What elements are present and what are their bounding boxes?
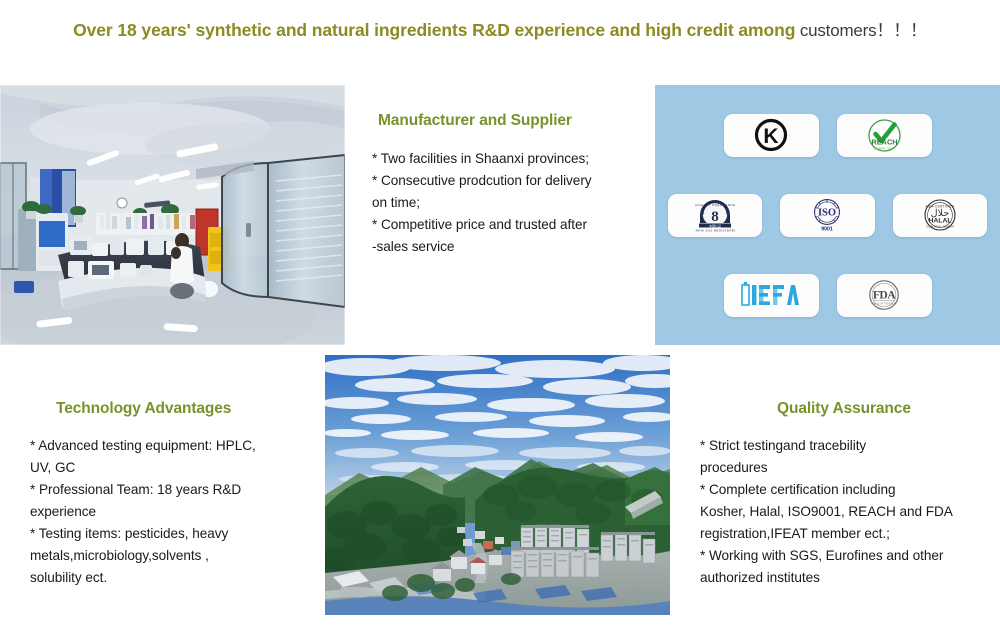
svg-text:FDA: FDA [873,288,896,301]
headline-strong-text: Over 18 years' synthetic and natural ing… [73,20,795,40]
manufacturer-heading: Manufacturer and Supplier [378,112,655,130]
kosher-certification-card[interactable]: K [724,114,819,157]
svg-text:ASIA CERTIFIED HALAL: ASIA CERTIFIED HALAL [922,197,924,198]
ifeat-icon [740,281,802,309]
valley-town-panorama-photo [325,355,670,615]
svg-text:CHINA SGS REGISTERED: CHINA SGS REGISTERED [695,228,735,232]
certification-row: QUALITY ASSURANCE 8 中国认证 CHINA SGS REGIS… [668,194,987,237]
certification-row: K REACH COMPLIANT [668,114,987,157]
technology-advantages-body: * Advanced testing equipment: HPLC, UV, … [30,435,322,589]
iso-9001-icon: ISO 9001 [809,197,845,233]
halal-certification-card[interactable]: ASIA CERTIFIED HALAL ASIA CERTIFIED حلال… [893,194,987,237]
svg-text:中国认证: 中国认证 [709,222,721,227]
svg-text:9001: 9001 [822,227,834,233]
halal-icon: ASIA CERTIFIED HALAL ASIA CERTIFIED حلال… [922,197,958,233]
technology-advantages-section: Technology Advantages * Advanced testing… [22,400,322,589]
svg-text:QUALITY ASSURANCE: QUALITY ASSURANCE [695,203,735,207]
reach-compliant-icon: REACH COMPLIANT [866,117,903,154]
headline-tail-text: customers！！！ [795,21,927,40]
technology-advantages-heading: Technology Advantages [56,400,322,418]
kosher-k-icon: K [754,118,788,152]
svg-text:CONTROL UNION: CONTROL UNION [926,225,954,229]
certification-grid: K REACH COMPLIANT QUALITY [668,97,987,333]
fda-registered-icon: FDA REGISTERED [866,278,902,312]
manufacturer-section: Manufacturer and Supplier * Two faciliti… [370,112,655,258]
quality-assurance-section: Quality Assurance * Strict testingand tr… [695,400,995,589]
certification-panel: K REACH COMPLIANT QUALITY [655,85,1000,345]
svg-text:ISO: ISO [818,208,836,219]
svg-text:REACH: REACH [871,137,897,146]
svg-text:K: K [763,125,778,148]
eight-seal-certification-card[interactable]: QUALITY ASSURANCE 8 中国认证 CHINA SGS REGIS… [668,194,762,237]
svg-text:REGISTERED: REGISTERED [871,301,896,305]
page-headline: Over 18 years' synthetic and natural ing… [0,16,1000,41]
svg-text:COMPLIANT: COMPLIANT [873,146,895,150]
quality-assurance-body: * Strict testingand tracebility procedur… [700,435,995,589]
svg-text:8: 8 [711,209,719,225]
quality-assurance-heading: Quality Assurance [777,400,995,418]
eight-seal-icon: QUALITY ASSURANCE 8 中国认证 CHINA SGS REGIS… [695,198,735,233]
iso-certification-card[interactable]: ISO 9001 [780,194,874,237]
svg-text:HALAL: HALAL [928,217,951,224]
manufacturer-body: * Two facilities in Shaanxi provinces; *… [372,148,655,258]
certification-row: FDA REGISTERED [668,274,987,317]
laboratory-panorama-photo [0,85,345,345]
fda-certification-card[interactable]: FDA REGISTERED [837,274,932,317]
ifeat-certification-card[interactable] [724,274,819,317]
reach-certification-card[interactable]: REACH COMPLIANT [837,114,932,157]
